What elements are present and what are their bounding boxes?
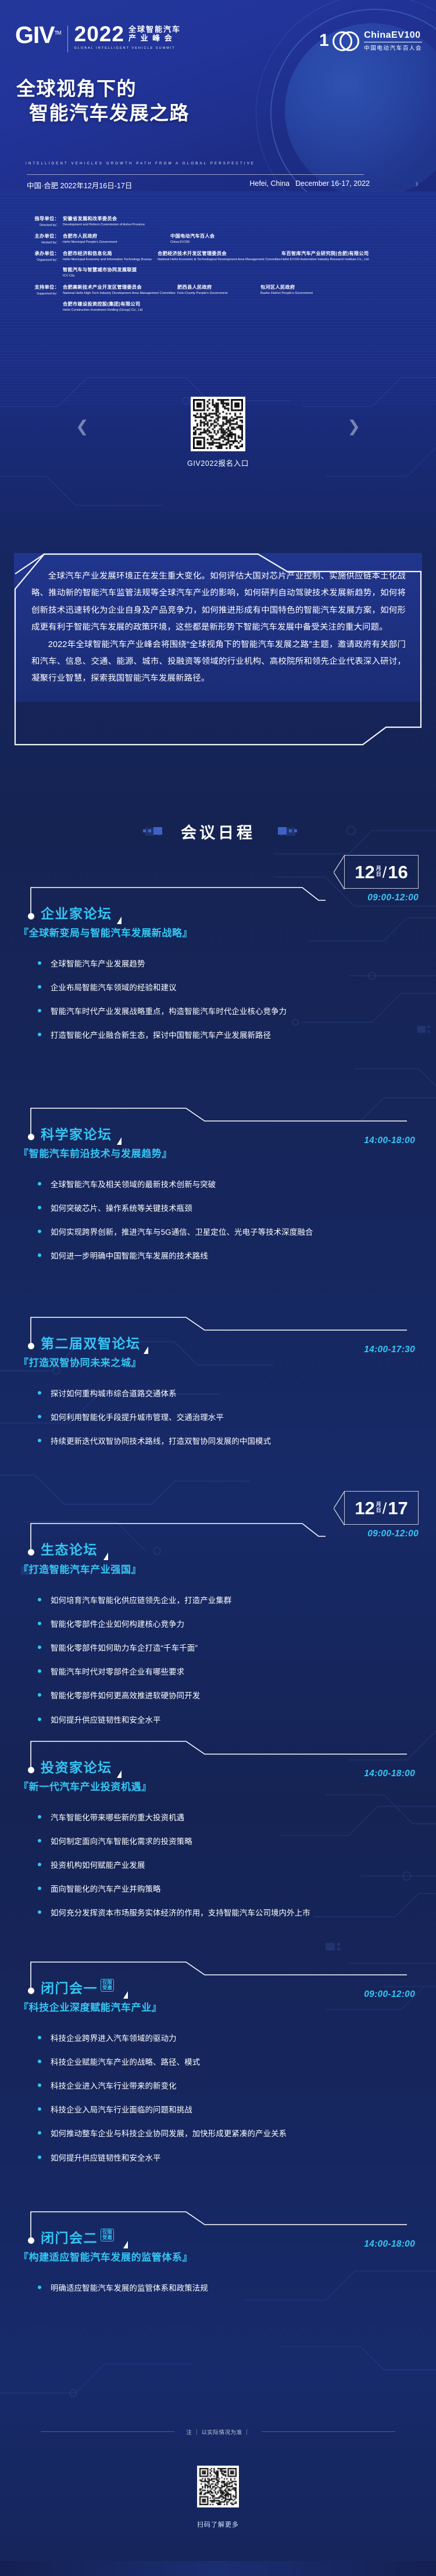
forum-tick-icon <box>103 1553 108 1560</box>
logo-divider <box>67 26 68 52</box>
forum-time: 14:00-18:00 <box>364 2239 415 2250</box>
forum-time: 14:00-17:30 <box>364 1345 415 1355</box>
organizer-name-en: ICV City <box>63 274 436 278</box>
summit-year: 2022 <box>74 24 124 44</box>
footer-bottom-bar <box>0 2561 436 2576</box>
ev100-divider <box>364 42 422 42</box>
forum-tick-icon <box>123 1991 128 1999</box>
meta-en: Hefei, China December 16-17, 2022 <box>249 179 370 191</box>
organizer-entry: 合肥市经济和信息化局Hefei Municipal Economy and In… <box>63 250 158 262</box>
agenda-deco-left-icon <box>143 827 162 835</box>
organizer-columns: 合肥高新技术产业开发区管理委员会National Hefei High-Tech… <box>63 283 436 296</box>
organizer-name-zh: 合肥高新技术产业开发区管理委员会 <box>63 283 177 290</box>
agenda-title: 会议日程 <box>0 820 436 843</box>
organizer-row: 支持单位：Supported by：合肥高新技术产业开发区管理委员会Nation… <box>0 283 436 296</box>
date-hex-notch <box>334 1491 345 1526</box>
forum-topic-item: 如何推动整车企业与科技企业协同发展，加快形成更紧凑的产业关系 <box>36 2128 420 2140</box>
forum-topic-list: 全球智能汽车及相关领域的最新技术创新与突破如何突破芯片、操作系统等关键技术瓶颈如… <box>36 1179 420 1274</box>
forum-topic-list: 全球智能汽车产业发展趋势企业布局智能汽车领域的经验和建议智能汽车时代产业发展战略… <box>36 958 420 1054</box>
forum-topic-item: 全球智能汽车产业发展趋势 <box>36 958 420 970</box>
footer-note: 注 ｜ 以实际情况为准 ｜ <box>0 2428 436 2436</box>
forum-topic-item: 科技企业跨界进入汽车领域的驱动力 <box>36 2033 420 2045</box>
forum-topic-item: 打造智能化产业融合新生态，探讨中国智能汽车产业发展新路径 <box>36 1030 420 1041</box>
poster-root: GIVTM 2022 全球智能汽车 产 业 峰 会 GLOBAL INTELLI… <box>0 0 436 2576</box>
footer-qr-canvas <box>199 2468 237 2505</box>
poster-title-en: INTELLIGENT VEHICLES GROWTH PATH FROM A … <box>26 161 255 166</box>
organizer-name-en: Feixi County People's Government <box>177 291 260 296</box>
footer-qr-code[interactable] <box>197 2466 239 2507</box>
organizer-entry: 车百智库汽车产业研究院(合肥)有限公司Hefei EV100 Automotiv… <box>281 250 421 262</box>
organizer-label-en: Directed by： <box>0 222 59 227</box>
organizer-name-zh: 合肥市建设投资控股(集团)有限公司 <box>63 300 436 307</box>
organizer-label-en: Hosted by： <box>0 240 59 245</box>
organizer-entry: 合肥经济技术开发区管理委员会National Hefei Economic & … <box>158 250 281 262</box>
invite-only-badge: 仅限受邀 <box>101 2229 114 2241</box>
intro-text: 全球汽车产业发展环境正在发生重大变化。如何评估大国对芯片产业控制、实施供应链本土… <box>31 568 406 688</box>
forum-name[interactable]: 生态论坛 <box>41 1539 98 1558</box>
organizer-row: 主办单位：Hosted by：合肥市人民政府Hefei Municipal Pe… <box>0 232 436 245</box>
organizer-entry: 包河区人民政府Baohe District People's Governmen… <box>260 283 377 296</box>
forum-topic-list: 探讨如何重构城市综合道路交通体系如何利用智能化手段提升城市管理、交通治理水平持续… <box>36 1388 420 1460</box>
registration-qr-caption: GIV2022报名入口 <box>0 457 436 468</box>
organizer-columns: 合肥市经济和信息化局Hefei Municipal Economy and In… <box>63 250 436 262</box>
forum-name[interactable]: 第二届双智论坛 <box>41 1332 141 1352</box>
giv-text: GIV <box>15 21 55 48</box>
ev100-name-zh: 中国电动汽车百人会 <box>364 44 422 52</box>
ev100-name-en: ChinaEV100 <box>364 30 422 41</box>
date-unit-labels: 月日 <box>376 1501 381 1514</box>
summit-name-en: GLOBAL INTELLIGENT VEHICLE SUMMIT <box>74 46 181 50</box>
organizer-name-en: Hefei Construction Investment Holding (G… <box>63 308 436 312</box>
ev100-text-block: ChinaEV100 中国电动汽车百人会 <box>364 30 422 52</box>
forum-topic-item: 如何利用智能化手段提升城市管理、交通治理水平 <box>36 1412 420 1424</box>
forum-topic-item: 探讨如何重构城市综合道路交通体系 <box>36 1388 420 1400</box>
organizer-name-en: Hefei EV100 Automotive Industry Research… <box>281 257 421 262</box>
forum-topic-list: 科技企业跨界进入汽车领域的驱动力科技企业赋能汽车产业的战略、路径、模式科技企业进… <box>36 2033 420 2176</box>
summit-name-zh-1: 全球智能汽车 <box>128 25 181 34</box>
date-month: 12 <box>355 863 374 881</box>
forum-subtitle: 『科技企业深度赋能汽车产业』 <box>19 1999 162 2014</box>
forum-topic-item: 智能化零部件如何更高效推进软硬协同开发 <box>36 1690 420 1702</box>
header-chevron-right-icon: › <box>415 178 419 190</box>
organizer-label-zh: 承办单位： <box>0 250 59 257</box>
registration-qr-code[interactable] <box>191 397 245 451</box>
title-line-1: 全球视角下的 <box>16 78 137 99</box>
forum-name[interactable]: 闭门会一仅限受邀 <box>41 1977 114 1997</box>
organizer-name-zh: 智能汽车与智慧城市协同发展联盟 <box>63 266 436 273</box>
organizer-entry: 肥西县人民政府Feixi County People's Government <box>177 283 260 296</box>
meta-city-en: Hefei, China <box>249 179 290 191</box>
intro-paragraph: 全球汽车产业发展环境正在发生重大变化。如何评估大国对芯片产业控制、实施供应链本土… <box>31 568 406 637</box>
forum-topic-item: 投资机构如何赋能产业发展 <box>36 1860 420 1871</box>
forum-topic-item: 智能汽车时代对零部件企业有哪些要求 <box>36 1666 420 1678</box>
organizer-row: 指导单位：Directed by：安徽省发展和改革委员会Development … <box>0 215 436 227</box>
forum-topic-item: 面向智能化的汽车产业并购策略 <box>36 1884 420 1895</box>
forum-topic-item: 如何进一步明确中国智能汽车发展的技术路线 <box>36 1251 420 1262</box>
organizer-entry: 合肥高新技术产业开发区管理委员会National Hefei High-Tech… <box>63 283 177 296</box>
date-unit-labels: 月日 <box>376 865 381 878</box>
forum-tick-icon <box>117 1770 121 1778</box>
forum-tick-icon <box>117 917 121 924</box>
agenda-deco-right-icon <box>278 827 297 835</box>
date-hex-notch <box>334 855 345 890</box>
giv-wordmark: GIVTM <box>15 24 61 46</box>
forum-topic-item: 如何培育汽车智能化供应链领先企业，打造产业集群 <box>36 1595 420 1607</box>
forum-subtitle: 『全球新变局与智能汽车发展新战略』 <box>19 925 192 939</box>
forum-bullet-dot <box>28 1549 34 1555</box>
organizer-name-en: Baohe District People's Government <box>260 291 377 296</box>
organizer-label: 主办单位：Hosted by： <box>0 232 63 245</box>
organizer-entry: 合肥市人民政府Hefei Municipal People's Governme… <box>63 232 170 245</box>
forum-topic-list: 明确适应智能汽车发展的监管体系和政策法规 <box>36 2283 420 2306</box>
forum-topic-item: 如何充分发挥资本市场服务实体经济的作用，支持智能汽车公司境内外上市 <box>36 1907 420 1919</box>
ev100-circle-b <box>339 31 359 51</box>
date-day: 16 <box>388 863 408 881</box>
organizer-columns: 安徽省发展和改革委员会Development and Reform Commis… <box>63 215 436 227</box>
forum-time: 14:00-18:00 <box>364 1769 415 1779</box>
summit-name-zh-2: 产 业 峰 会 <box>128 34 181 42</box>
forum-subtitle: 『打造双智协同未来之城』 <box>19 1355 141 1369</box>
forum-topic-item: 明确适应智能汽车发展的监管体系和政策法规 <box>36 2283 420 2294</box>
organizer-label-zh: 主办单位： <box>0 232 59 239</box>
invite-only-badge: 仅限受邀 <box>101 1979 114 1992</box>
forum-topic-item: 全球智能汽车及相关领域的最新技术创新与突破 <box>36 1179 420 1191</box>
organizer-row: 承办单位：Organized by：合肥市经济和信息化局Hefei Munici… <box>0 250 436 262</box>
forum-bullet-dot <box>28 1343 34 1349</box>
forum-topic-item: 科技企业赋能汽车产业的战略、路径、模式 <box>36 2057 420 2068</box>
forum-time: 09:00-12:00 <box>344 1529 419 1539</box>
organizer-label: 支持单位：Supported by： <box>0 283 63 296</box>
forum-tick-icon <box>144 1346 148 1354</box>
title-line-2: 智能汽车发展之路 <box>29 101 190 125</box>
date-month-label: 月 <box>376 1501 381 1507</box>
forum-topic-item: 持续更新迭代双智协同技术路线，打造双智协同发展的中国模式 <box>36 1436 420 1447</box>
summit-name-zh: 全球智能汽车 产 业 峰 会 <box>128 25 181 43</box>
ev100-numeral-one: 1 <box>319 32 329 49</box>
poster-title: 全球视角下的 智能汽车发展之路 <box>16 77 190 125</box>
forum-tick-icon <box>117 1137 121 1145</box>
forum-subtitle: 『打造智能汽车产业强国』 <box>19 1561 141 1576</box>
date-slash: / <box>383 1501 387 1517</box>
forum-topic-list: 汽车智能化带来哪些新的重大投资机遇如何制定面向汽车智能化需求的投资策略投资机构如… <box>36 1812 420 1932</box>
forum-topic-item: 如何提升供应链韧性和安全水平 <box>36 1715 420 1726</box>
organizer-name-en: National Hefei Economic & Technological … <box>158 257 281 262</box>
giv-logo: GIVTM 2022 全球智能汽车 产 业 峰 会 GLOBAL INTELLI… <box>15 24 181 52</box>
organizer-name-en: Hefei Municipal People's Government <box>63 240 170 245</box>
organizer-entry-extra: 合肥市建设投资控股(集团)有限公司Hefei Construction Inve… <box>63 300 436 312</box>
organizer-name-en: Hefei Municipal Economy and Information … <box>63 257 158 262</box>
organizer-label-en: Organized by： <box>0 257 59 262</box>
forum-name[interactable]: 科学家论坛 <box>41 1123 112 1143</box>
organizer-name-zh: 中国电动汽车百人会 <box>170 232 310 239</box>
forum-time: 09:00-12:00 <box>344 893 419 903</box>
forum-topic-item: 如何提升供应链韧性和安全水平 <box>36 2153 420 2164</box>
organizer-name-zh: 合肥市经济和信息化局 <box>63 250 158 257</box>
organizer-entry: 安徽省发展和改革委员会Development and Reform Commis… <box>63 215 255 227</box>
forum-subtitle: 『构建适应智能汽车发展的监管体系』 <box>19 2249 192 2264</box>
date-day-label: 日 <box>376 871 381 877</box>
organizer-entry-extra: 智能汽车与智慧城市协同发展联盟ICV City <box>63 266 436 278</box>
organizers-block: 指导单位：Directed by：安徽省发展和改革委员会Development … <box>0 215 436 318</box>
organizer-name-en: Development and Reform Commission of Anh… <box>63 222 255 227</box>
forum-time: 09:00-12:00 <box>364 1989 415 2000</box>
organizer-name-en: China EV100 <box>170 240 310 245</box>
forum-tick-icon <box>123 2241 128 2248</box>
forum-topic-item: 科技企业入局汽车行业面临的问题和挑战 <box>36 2104 420 2116</box>
date-hex-frame: 12月日/17 <box>344 1491 419 1525</box>
organizer-name-en: National Hefei High-Tech Industry Develo… <box>63 291 177 296</box>
date-day: 17 <box>388 1499 408 1517</box>
forum-date-badge: 12月日/1709:00-12:00 <box>344 1491 419 1539</box>
registration-qr-block: ❮ ❯ GIV2022报名入口 <box>0 397 436 468</box>
meta-cn: 中国·合肥 2022年12月16日-17日 <box>27 179 132 191</box>
organizer-label: 指导单位：Directed by： <box>0 215 63 227</box>
organizer-entry: 中国电动汽车百人会China EV100 <box>170 232 310 245</box>
forum-topic-item: 企业布局智能汽车领域的经验和建议 <box>36 982 420 994</box>
organizer-name-zh: 包河区人民政府 <box>260 283 377 290</box>
forum-topic-item: 智能汽车时代产业发展战略重点，构造智能汽车时代企业核心竞争力 <box>36 1006 420 1018</box>
summit-lockup: 2022 全球智能汽车 产 业 峰 会 GLOBAL INTELLIGENT V… <box>74 24 181 50</box>
organizer-name-zh: 合肥市人民政府 <box>63 232 170 239</box>
organizer-label-en: Supported by： <box>0 291 59 296</box>
forum-name[interactable]: 投资家论坛 <box>41 1756 112 1776</box>
ev100-mark-icon: 1 <box>324 31 359 51</box>
forum-bullet-dot <box>28 2237 34 2244</box>
forum-name[interactable]: 企业家论坛 <box>41 903 112 922</box>
qr-canvas <box>193 399 243 449</box>
organizer-label-zh: 指导单位： <box>0 215 59 222</box>
forum-topic-item: 智能化零部件企业如何构建核心竞争力 <box>36 1619 420 1630</box>
forum-time: 14:00-18:00 <box>364 1136 415 1146</box>
intro-panel: 全球汽车产业发展环境正在发生重大变化。如何评估大国对芯片产业控制、实施供应链本土… <box>14 553 422 702</box>
organizer-name-zh: 合肥经济技术开发区管理委员会 <box>158 250 281 257</box>
forum-bullet-dot <box>28 1767 34 1773</box>
date-month-label: 月 <box>376 865 381 871</box>
poster-header: GIVTM 2022 全球智能汽车 产 业 峰 会 GLOBAL INTELLI… <box>0 0 436 192</box>
intro-paragraph: 2022年全球智能汽车产业峰会将围绕“全球视角下的智能汽车发展之路”主题，邀请政… <box>31 637 406 688</box>
organizer-label-zh: 支持单位： <box>0 283 59 290</box>
footer-qr-caption: 扫码了解更多 <box>0 2520 436 2529</box>
forum-date-badge: 12月日/1609:00-12:00 <box>344 855 419 903</box>
meta-date-en: December 16-17, 2022 <box>295 179 370 191</box>
forum-topic-item: 如何突破芯片、操作系统等关键技术瓶颈 <box>36 1203 420 1215</box>
giv-tm: TM <box>55 30 61 35</box>
forum-subtitle: 『智能汽车前沿技术与发展趋势』 <box>19 1145 172 1160</box>
organizer-columns: 合肥市人民政府Hefei Municipal People's Governme… <box>63 232 436 245</box>
forum-bullet-dot <box>28 1988 34 1994</box>
forum-subtitle: 『新一代汽车产业投资机遇』 <box>19 1779 152 1793</box>
date-slash: / <box>383 865 387 881</box>
circuit-background <box>0 0 436 2576</box>
forum-name[interactable]: 闭门会二仅限受邀 <box>41 2227 114 2247</box>
header-meta: 中国·合肥 2022年12月16日-17日 Hefei, China Decem… <box>27 179 370 191</box>
date-month: 12 <box>355 1499 374 1517</box>
china-ev100-logo: 1 ChinaEV100 中国电动汽车百人会 <box>324 30 422 52</box>
footer-caption-text: 扫码了解更多 <box>197 2521 239 2528</box>
organizer-name-zh: 肥西县人民政府 <box>177 283 260 290</box>
forum-topic-item: 智能化零部件如何助力车企打造“千车千面” <box>36 1643 420 1654</box>
organizer-name-zh: 安徽省发展和改革委员会 <box>63 215 255 222</box>
organizer-label: 承办单位：Organized by： <box>0 250 63 262</box>
chevron-right-icon: ❯ <box>347 418 360 436</box>
forum-topic-list: 如何培育汽车智能化供应链领先企业，打造产业集群智能化零部件企业如何构建核心竞争力… <box>36 1595 420 1738</box>
forum-topic-item: 汽车智能化带来哪些新的重大投资机遇 <box>36 1812 420 1824</box>
forum-bullet-dot <box>28 1134 34 1140</box>
organizer-name-zh: 车百智库汽车产业研究院(合肥)有限公司 <box>281 250 421 257</box>
date-day-label: 日 <box>376 1507 381 1513</box>
forum-bullet-dot <box>28 913 34 919</box>
forum-topic-item: 如何制定面向汽车智能化需求的投资策略 <box>36 1836 420 1848</box>
forum-topic-item: 科技企业进入汽车行业带来的新变化 <box>36 2081 420 2092</box>
chevron-left-icon: ❮ <box>76 418 89 436</box>
header-divider <box>27 174 364 175</box>
date-hex-frame: 12月日/16 <box>344 855 419 889</box>
forum-topic-item: 如何实现跨界创新，推进汽车与5G通信、卫星定位、光电子等技术深度融合 <box>36 1227 420 1238</box>
